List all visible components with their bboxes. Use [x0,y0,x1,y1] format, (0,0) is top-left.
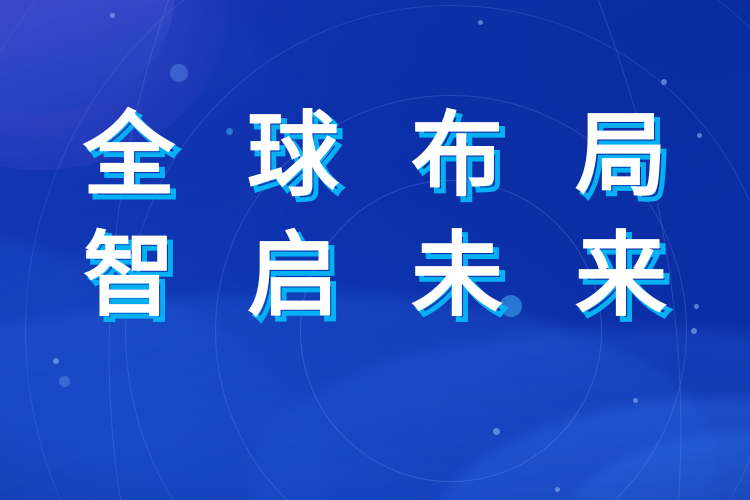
dot-bottom-right [633,398,638,403]
dot-upper-left-big [170,64,188,82]
dot-bottom-far [555,487,560,492]
dot-top-right [661,79,667,85]
dot-top-center [478,20,483,25]
headline-line-2-text: 智 启 未 来 [0,216,750,336]
dot-left-lower-small [53,358,59,364]
headline-block: 全 球 布 局 全 球 布 局 智 启 未 来 智 启 未 来 [0,96,750,336]
headline-line-2: 智 启 未 来 智 启 未 来 [0,216,750,336]
promo-banner: 全 球 布 局 全 球 布 局 智 启 未 来 智 启 未 来 [0,0,750,500]
headline-line-1: 全 球 布 局 全 球 布 局 [0,96,750,216]
dot-left-lower-big [59,376,70,387]
dot-bottom-center [493,428,500,435]
dot-top-left-small [110,13,115,18]
headline-line-1-text: 全 球 布 局 [0,96,750,216]
